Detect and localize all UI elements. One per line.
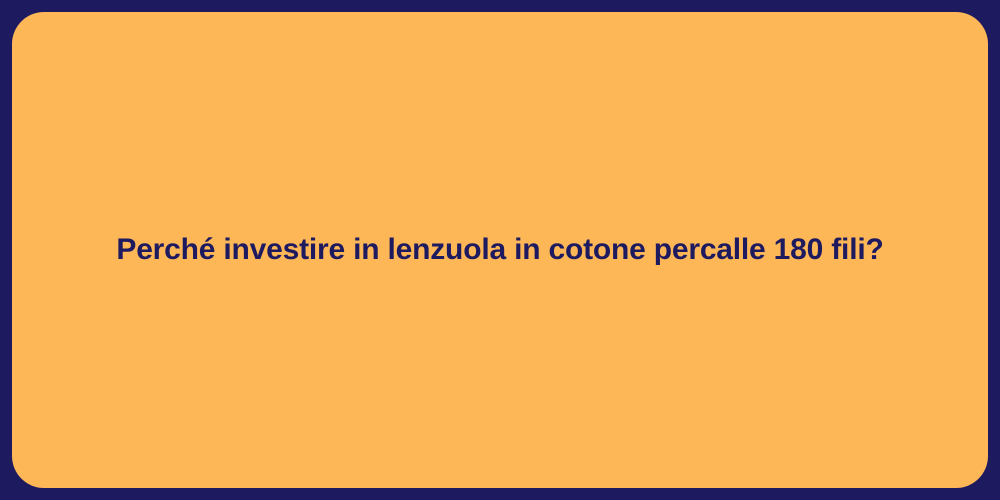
page-backdrop: Perché investire in lenzuola in cotone p…: [0, 0, 1000, 500]
content-card: Perché investire in lenzuola in cotone p…: [12, 12, 988, 488]
page-title: Perché investire in lenzuola in cotone p…: [116, 231, 883, 269]
